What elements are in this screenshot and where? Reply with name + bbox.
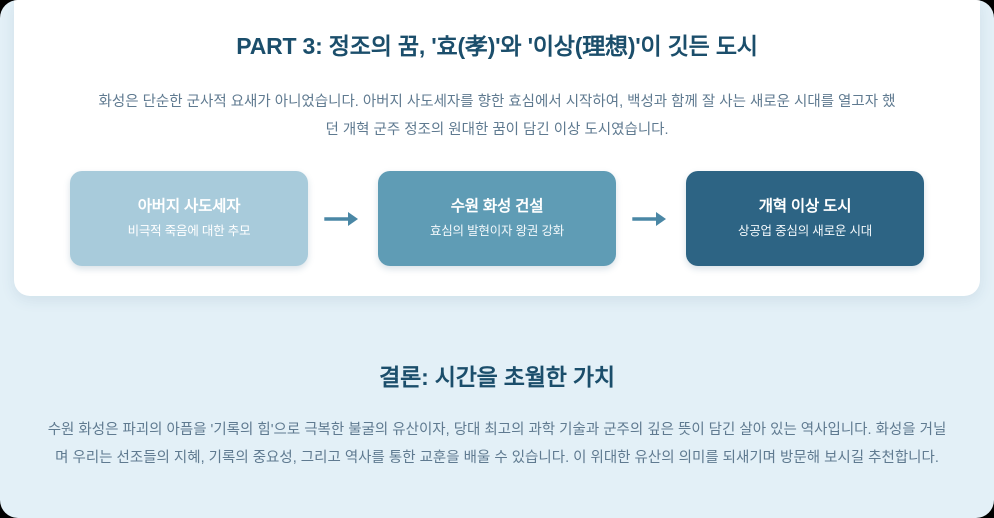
flow-step-subtitle: 효심의 발현이자 왕권 강화: [430, 224, 564, 239]
flow-step-subtitle: 상공업 중심의 새로운 시대: [738, 224, 872, 239]
arrow-right-icon: [308, 209, 378, 229]
flow-step-title: 아버지 사도세자: [138, 198, 241, 217]
arrow-right-icon: [616, 209, 686, 229]
flow-step-title: 수원 화성 건설: [451, 198, 544, 217]
page-root: PART 3: 정조의 꿈, '효(孝)'와 '이상(理想)'이 깃든 도시 화…: [0, 0, 994, 518]
flow-step-father-sadoseja[interactable]: 아버지 사도세자 비극적 죽음에 대한 추모: [70, 171, 308, 266]
part3-card: PART 3: 정조의 꿈, '효(孝)'와 '이상(理想)'이 깃든 도시 화…: [14, 0, 980, 296]
flow-diagram: 아버지 사도세자 비극적 죽음에 대한 추모 수원 화성 건설 효심의 발현이자…: [14, 171, 980, 266]
flow-step-hwaseong-construction[interactable]: 수원 화성 건설 효심의 발현이자 왕권 강화: [378, 171, 616, 266]
part3-intro-paragraph: 화성은 단순한 군사적 요새가 아니었습니다. 아버지 사도세자를 향한 효심에…: [97, 62, 897, 145]
conclusion-title: 결론: 시간을 초월한 가치: [14, 296, 980, 392]
flow-step-reform-ideal-city[interactable]: 개혁 이상 도시 상공업 중심의 새로운 시대: [686, 171, 924, 266]
flow-step-title: 개혁 이상 도시: [759, 198, 852, 217]
flow-step-subtitle: 비극적 죽음에 대한 추모: [128, 224, 251, 239]
conclusion-paragraph: 수원 화성은 파괴의 아픔을 '기록의 힘'으로 극복한 불굴의 유산이자, 당…: [44, 392, 950, 473]
page-title: PART 3: 정조의 꿈, '효(孝)'와 '이상(理想)'이 깃든 도시: [14, 0, 980, 62]
conclusion-section: 결론: 시간을 초월한 가치 수원 화성은 파괴의 아픔을 '기록의 힘'으로 …: [14, 296, 980, 518]
